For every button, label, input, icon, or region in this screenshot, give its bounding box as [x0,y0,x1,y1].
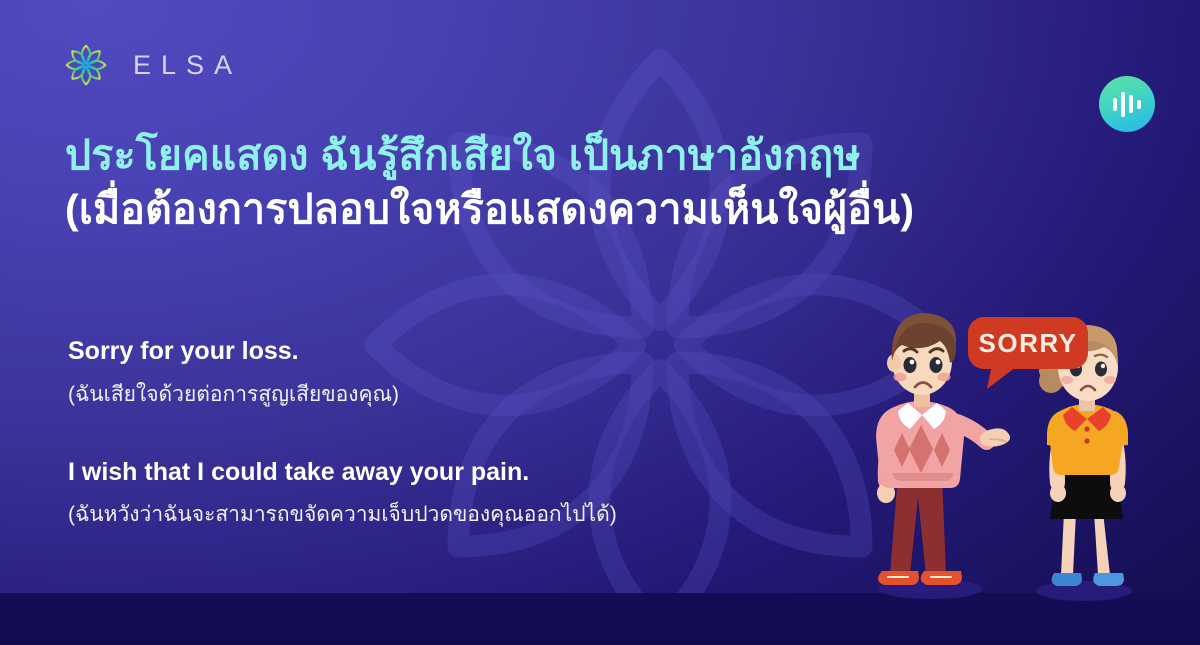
brand-wordmark: ELSA [131,52,242,79]
poster-canvas: ELSA ประโยคแสดง ฉันรู้สึกเสียใจ เป็นภาษา… [0,0,1200,645]
sound-wave-icon[interactable] [1099,76,1155,132]
wave-bar-3 [1129,95,1133,113]
phrase-thai: (ฉันเสียใจด้วยต่อการสูญเสียของคุณ) [68,381,858,408]
page-title-line-2: (เมื่อต้องการปลอบใจหรือแสดงความเห็นใจผู้… [65,182,1065,236]
wave-bar-2 [1121,92,1125,117]
phrase-list: Sorry for your loss. (ฉันเสียใจด้วยต่อกา… [68,335,858,529]
list-item: Sorry for your loss. (ฉันเสียใจด้วยต่อกา… [68,335,858,408]
page-title: ประโยคแสดง ฉันรู้สึกเสียใจ เป็นภาษาอังกฤ… [65,128,1065,236]
page-title-line-1: ประโยคแสดง ฉันรู้สึกเสียใจ เป็นภาษาอังกฤ… [65,128,1065,182]
elsa-flower-logo-icon [63,42,109,88]
wave-bar-1 [1113,98,1117,111]
phrase-english: I wish that I could take away your pain. [68,456,858,489]
wave-bar-4 [1137,100,1141,109]
brand-header: ELSA [63,42,242,88]
phrase-thai: (ฉันหวังว่าฉันจะสามารถขจัดความเจ็บปวดของ… [68,501,858,528]
list-item: I wish that I could take away your pain.… [68,456,858,529]
phrase-english: Sorry for your loss. [68,335,858,368]
characters-illustration: SORRY [832,307,1192,607]
speech-bubble-text: SORRY [979,328,1078,358]
